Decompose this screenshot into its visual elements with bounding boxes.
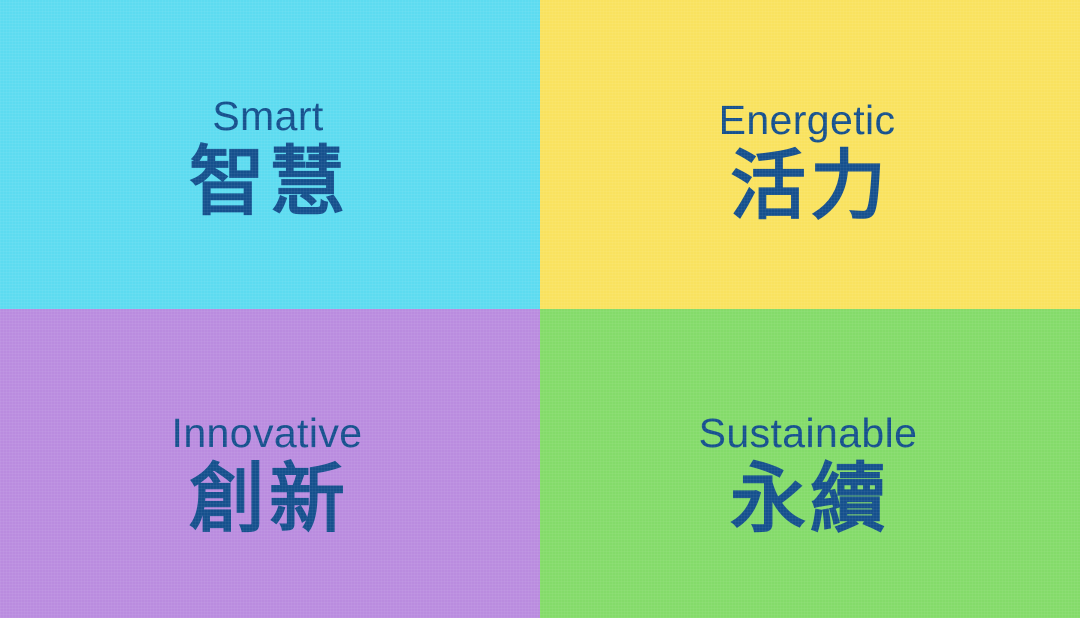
quadrant-innovative-text-block: Innovative 創新	[0, 413, 540, 537]
quadrant-sustainable-text-block: Sustainable 永續	[540, 413, 1080, 537]
quadrant-energetic-label-zh: 活力	[540, 148, 1076, 224]
quadrant-innovative-label-zh: 創新	[0, 461, 534, 537]
quadrant-smart-label-zh: 智慧	[0, 144, 534, 220]
quadrant-innovative-label-en: Innovative	[0, 413, 534, 455]
quadrant-energetic-label-en: Energetic	[540, 100, 1075, 142]
quadrant-energetic-text-block: Energetic 活力	[540, 100, 1080, 224]
quadrant-smart-text-block: Smart 智慧	[0, 96, 540, 220]
quadrant-energetic: Energetic 活力	[540, 0, 1080, 309]
quadrant-sustainable: Sustainable 永續	[540, 309, 1080, 618]
quadrant-smart: Smart 智慧	[0, 0, 540, 309]
quadrant-sustainable-label-en: Sustainable	[540, 413, 1076, 455]
quadrant-sustainable-label-zh: 永續	[540, 461, 1076, 537]
quadrant-innovative: Innovative 創新	[0, 309, 540, 618]
quadrant-smart-label-en: Smart	[1, 96, 535, 138]
brand-values-grid: Smart 智慧 Energetic 活力 Innovative 創新 Sust…	[0, 0, 1080, 618]
